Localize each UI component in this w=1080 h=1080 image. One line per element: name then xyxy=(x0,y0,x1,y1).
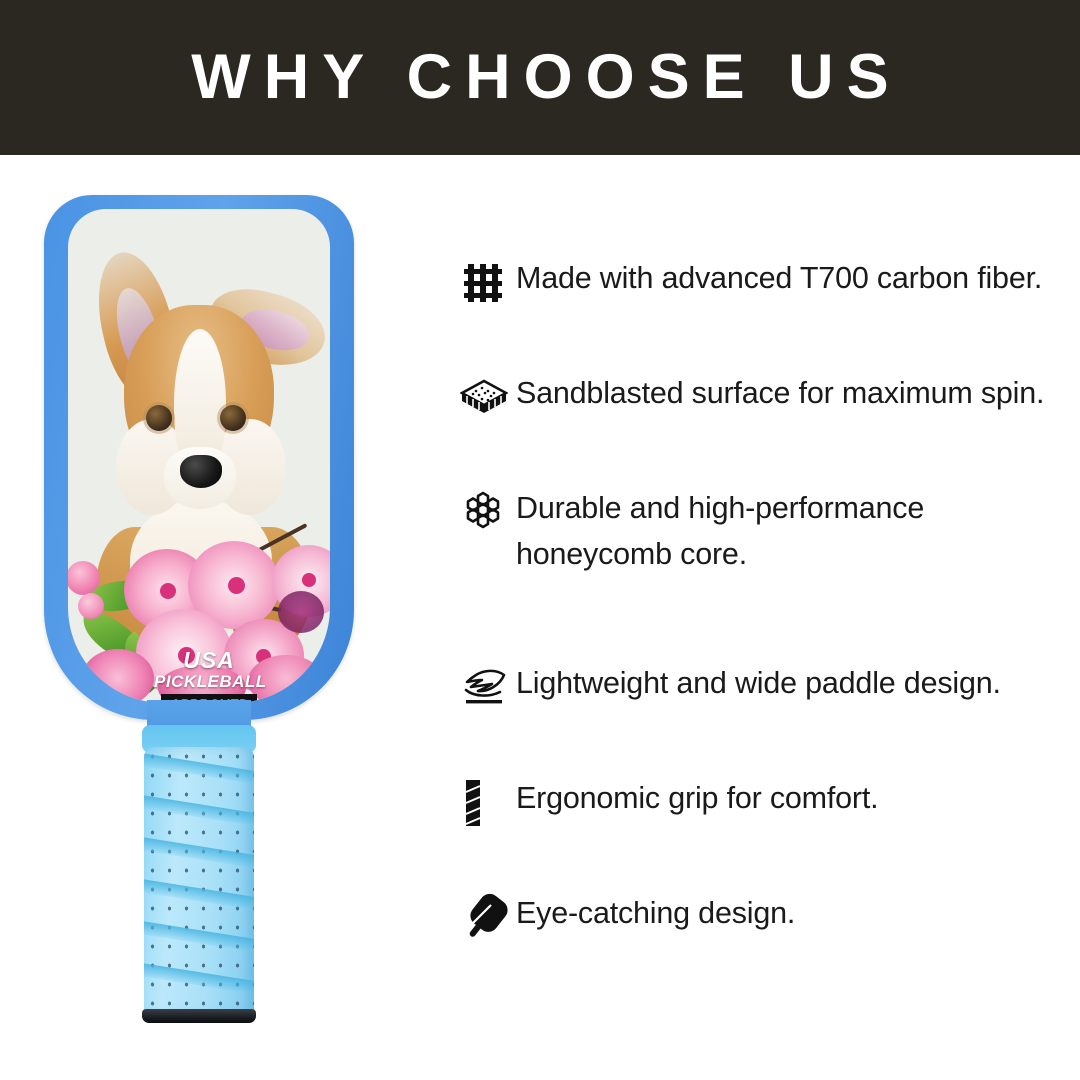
corgi-left-eye xyxy=(146,405,172,431)
blossom-flower xyxy=(82,649,154,703)
usa-pickleball-badge: USA PICKLEBALL APPROVED xyxy=(154,649,264,703)
paddle-butt-cap xyxy=(142,1009,256,1023)
blossom-bud xyxy=(78,593,104,619)
feature-item-sandblasted: Sandblasted surface for maximum spin. xyxy=(460,370,1080,424)
feature-label: Ergonomic grip for comfort. xyxy=(516,775,878,821)
paddle-grip xyxy=(144,747,254,1015)
feature-label: Made with advanced T700 carbon fiber. xyxy=(516,255,1042,301)
product-image-panel: USA PICKLEBALL APPROVED xyxy=(0,155,430,1080)
honeycomb-core-icon xyxy=(460,485,516,539)
paddle-face: USA PICKLEBALL APPROVED xyxy=(68,209,330,703)
paddle-icon xyxy=(460,890,516,944)
grip-handle-icon xyxy=(460,775,516,829)
corgi-nose xyxy=(180,455,222,488)
feature-item-grip: Ergonomic grip for comfort. xyxy=(460,775,1080,829)
main-content: USA PICKLEBALL APPROVED xyxy=(0,155,1080,1080)
feature-label: Lightweight and wide paddle design. xyxy=(516,660,1001,706)
feature-item-honeycomb: Durable and high-performance honeycomb c… xyxy=(460,485,1080,578)
paddle-edge-guard: USA PICKLEBALL APPROVED xyxy=(44,195,354,720)
feature-list: Made with advanced T700 carbon fiber. xyxy=(460,155,1080,1080)
blossom-center xyxy=(228,577,245,594)
badge-line-usa: USA xyxy=(154,649,264,672)
feather-lightweight-icon xyxy=(460,660,516,714)
feature-item-lightweight: Lightweight and wide paddle design. xyxy=(460,660,1080,714)
sandblasted-surface-icon xyxy=(460,370,516,424)
blossom-center xyxy=(160,583,176,599)
pickleball-paddle-image: USA PICKLEBALL APPROVED xyxy=(34,195,364,1050)
corgi-right-eye xyxy=(220,405,246,431)
feature-item-carbon-fiber: Made with advanced T700 carbon fiber. xyxy=(460,255,1080,309)
feature-item-design: Eye-catching design. xyxy=(460,890,1080,944)
feature-label: Eye-catching design. xyxy=(516,890,795,936)
feature-label: Sandblasted surface for maximum spin. xyxy=(516,370,1044,416)
carbon-fiber-weave-icon xyxy=(460,255,516,309)
blossom-center xyxy=(302,573,316,587)
header-band: WHY CHOOSE US xyxy=(0,0,1080,155)
blossom-dark-accent xyxy=(278,591,324,633)
badge-line-pickleball: PICKLEBALL xyxy=(154,672,264,692)
feature-label: Durable and high-performance honeycomb c… xyxy=(516,485,924,578)
page-title: WHY CHOOSE US xyxy=(178,46,901,109)
